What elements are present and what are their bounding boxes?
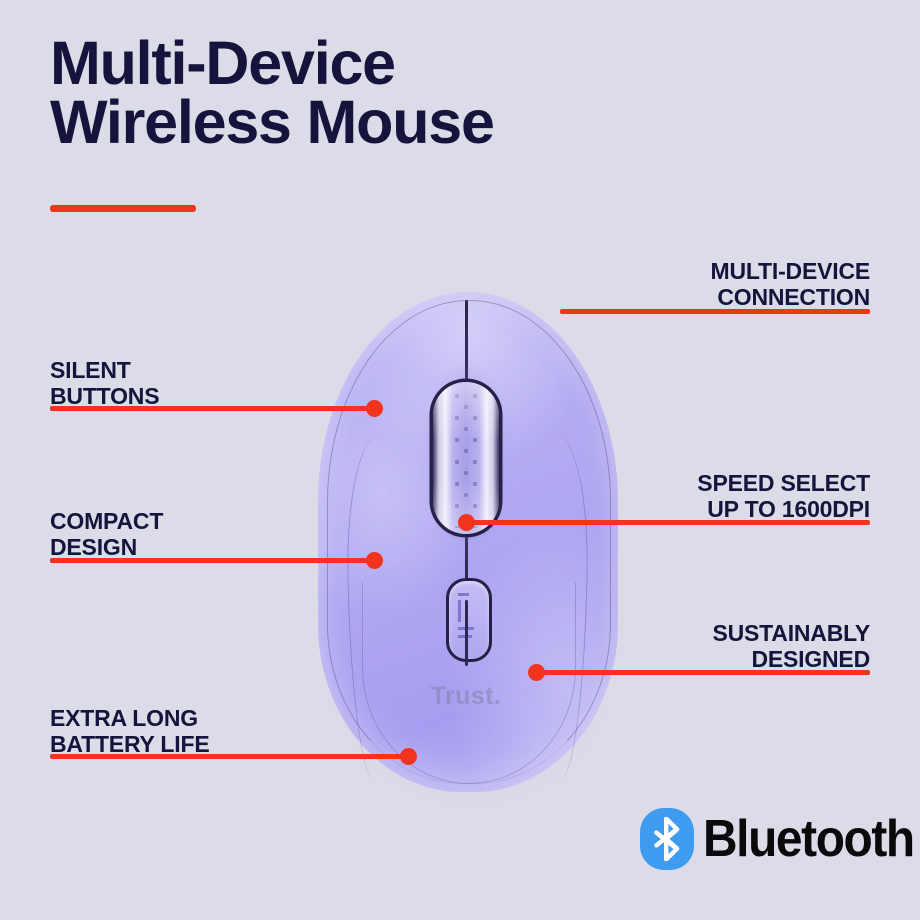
mouse-button-split-lower (465, 537, 468, 579)
scroll-wheel (433, 382, 499, 534)
callout-extra-long-battery-life-line-1: EXTRA LONG (50, 705, 209, 731)
callout-multi-device-connection-line-2: CONNECTION (711, 284, 870, 310)
callout-dot-extra-long-battery-life (400, 748, 417, 765)
scroll-wheel-gloss (433, 382, 499, 534)
callout-multi-device-connection-line-1: MULTI-DEVICE (711, 258, 870, 284)
callout-label-speed-select: SPEED SELECT UP TO 1600DPI (697, 470, 870, 522)
bluetooth-logo: Bluetooth ® (640, 808, 920, 870)
page-title: Multi-Device Wireless Mouse (50, 34, 750, 152)
callout-label-silent-buttons: SILENT BUTTONS (50, 357, 159, 409)
callout-sustainably-designed-line-2: DESIGNED (712, 646, 870, 672)
page-title-line-1: Multi-Device (50, 29, 395, 97)
callout-compact-design-line-2: DESIGN (50, 534, 163, 560)
callout-leader-line-silent-buttons (50, 406, 376, 411)
callout-label-multi-device-connection: MULTI-DEVICE CONNECTION (711, 258, 870, 310)
bluetooth-wordmark: Bluetooth (703, 813, 914, 865)
callout-silent-buttons-line-1: SILENT (50, 357, 159, 383)
callout-label-compact-design: COMPACT DESIGN (50, 508, 163, 560)
trust-brand-mark: Trust. (296, 682, 636, 711)
callout-leader-line-extra-long-battery-life (50, 754, 410, 759)
callout-dot-speed-select (458, 514, 475, 531)
callout-compact-design-line-1: COMPACT (50, 508, 163, 534)
callout-dot-sustainably-designed (528, 664, 545, 681)
callout-leader-line-speed-select (466, 520, 870, 525)
mouse-button-split-tail (465, 600, 468, 666)
callout-label-sustainably-designed: SUSTAINABLY DESIGNED (712, 620, 870, 672)
callout-label-extra-long-battery-life: EXTRA LONG BATTERY LIFE (50, 705, 209, 757)
callout-speed-select-line-2: UP TO 1600DPI (697, 496, 870, 522)
page-title-line-2: Wireless Mouse (50, 93, 750, 152)
title-underline-rule (50, 205, 196, 212)
callout-dot-compact-design (366, 552, 383, 569)
infographic-canvas: Multi-Device Wireless Mouse Trust. MULTI… (0, 0, 920, 920)
callout-leader-line-sustainably-designed (538, 670, 870, 675)
dpi-speed-select-button (446, 578, 492, 662)
callout-sustainably-designed-line-1: SUSTAINABLY (712, 620, 870, 646)
bluetooth-icon (640, 808, 694, 870)
product-image-mouse: Trust. (296, 282, 636, 802)
callout-leader-line-multi-device-connection (560, 309, 870, 314)
callout-speed-select-line-1: SPEED SELECT (697, 470, 870, 496)
callout-dot-silent-buttons (366, 400, 383, 417)
callout-leader-line-compact-design (50, 558, 376, 563)
